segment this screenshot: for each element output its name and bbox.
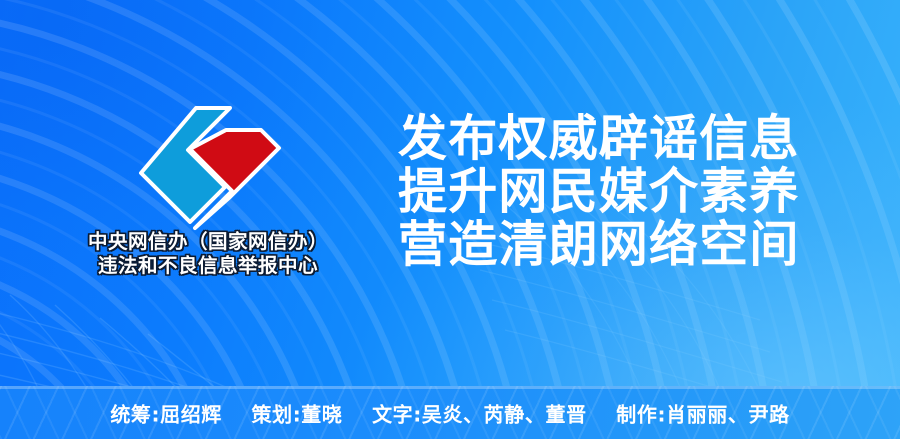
credits-bar-top-edge [0,386,900,389]
headline-line-1: 发布权威辟谣信息 [398,112,800,165]
logo-block: 中央网信办（国家网信办） 违法和不良信息举报中心 [78,104,338,284]
credit-producer: 统筹:屈绍辉 [110,398,222,427]
logo-caption-line-2: 违法和不良信息举报中心 [78,254,338,278]
credits-bar: 统筹:屈绍辉 策划:董晓 文字:吴炎、芮静、董晋 制作:肖丽丽、尹路 [0,386,900,439]
headline-line-3: 营造清朗网络空间 [398,218,800,271]
logo-caption: 中央网信办（国家网信办） 违法和不良信息举报中心 [78,230,338,278]
credit-designers: 制作:肖丽丽、尹路 [616,398,789,427]
logo-caption-line-1: 中央网信办（国家网信办） [78,230,338,254]
china-cyberspace-report-center-emblem-icon [133,104,283,232]
credit-planner: 策划:董晓 [252,398,343,427]
credit-writers: 文字:吴炎、芮静、董晋 [372,398,587,427]
promo-poster: 中央网信办（国家网信办） 违法和不良信息举报中心 发布权威辟谣信息 提升网民媒介… [0,0,900,439]
headline: 发布权威辟谣信息 提升网民媒介素养 营造清朗网络空间 [398,112,800,271]
headline-line-2: 提升网民媒介素养 [398,165,800,218]
credits-list: 统筹:屈绍辉 策划:董晓 文字:吴炎、芮静、董晋 制作:肖丽丽、尹路 [0,398,900,427]
